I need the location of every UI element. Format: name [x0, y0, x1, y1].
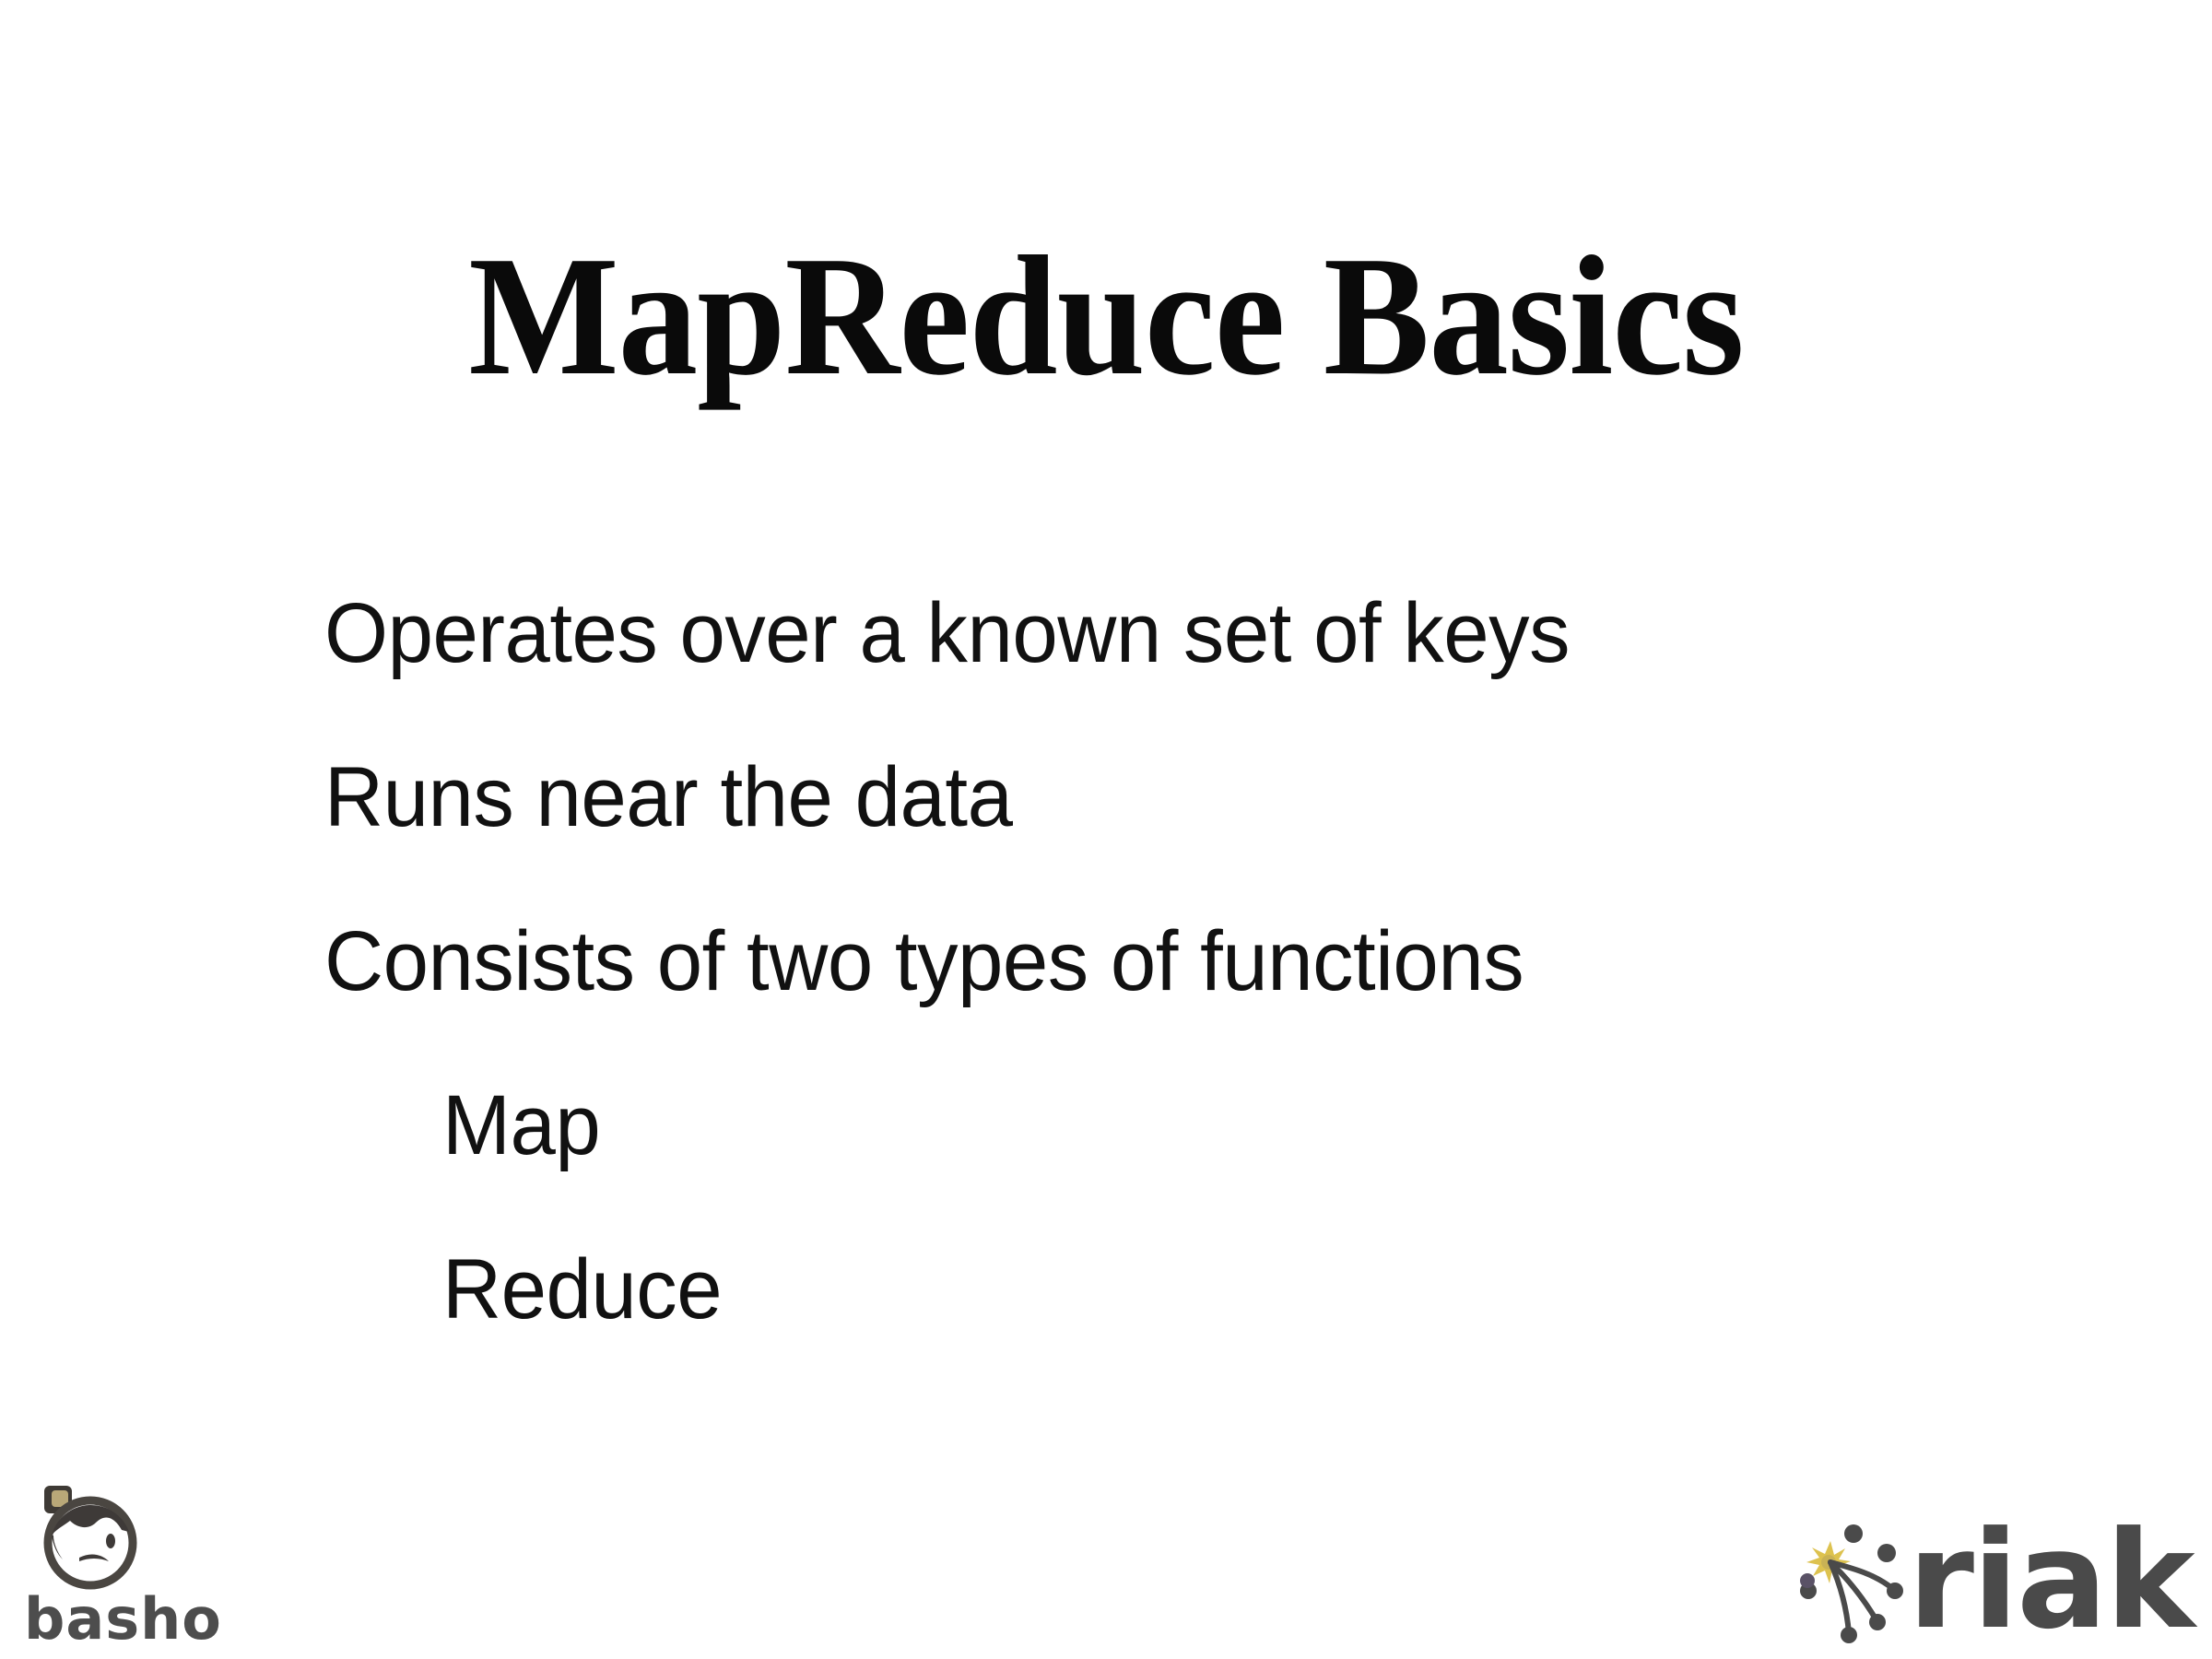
riak-starburst-icon [1797, 1513, 1919, 1653]
riak-logo: riak [1797, 1506, 2194, 1659]
basho-face-icon [33, 1482, 140, 1594]
bullet-list: Operates over a known set of keys Runs n… [324, 551, 2076, 1371]
list-item: Runs near the data [324, 715, 2015, 879]
slide-canvas: MapReduce Basics Operates over a known s… [0, 0, 2212, 1659]
list-item: Reduce [442, 1207, 2018, 1371]
list-item: Operates over a known set of keys [324, 551, 2015, 715]
page-title: MapReduce Basics [77, 224, 2135, 409]
basho-wordmark: basho [24, 1591, 222, 1648]
list-item: Consists of two types of functions [324, 879, 2015, 1043]
basho-logo: basho [20, 1482, 241, 1652]
list-item: Map [442, 1043, 2018, 1207]
riak-wordmark: riak [1908, 1512, 2194, 1650]
